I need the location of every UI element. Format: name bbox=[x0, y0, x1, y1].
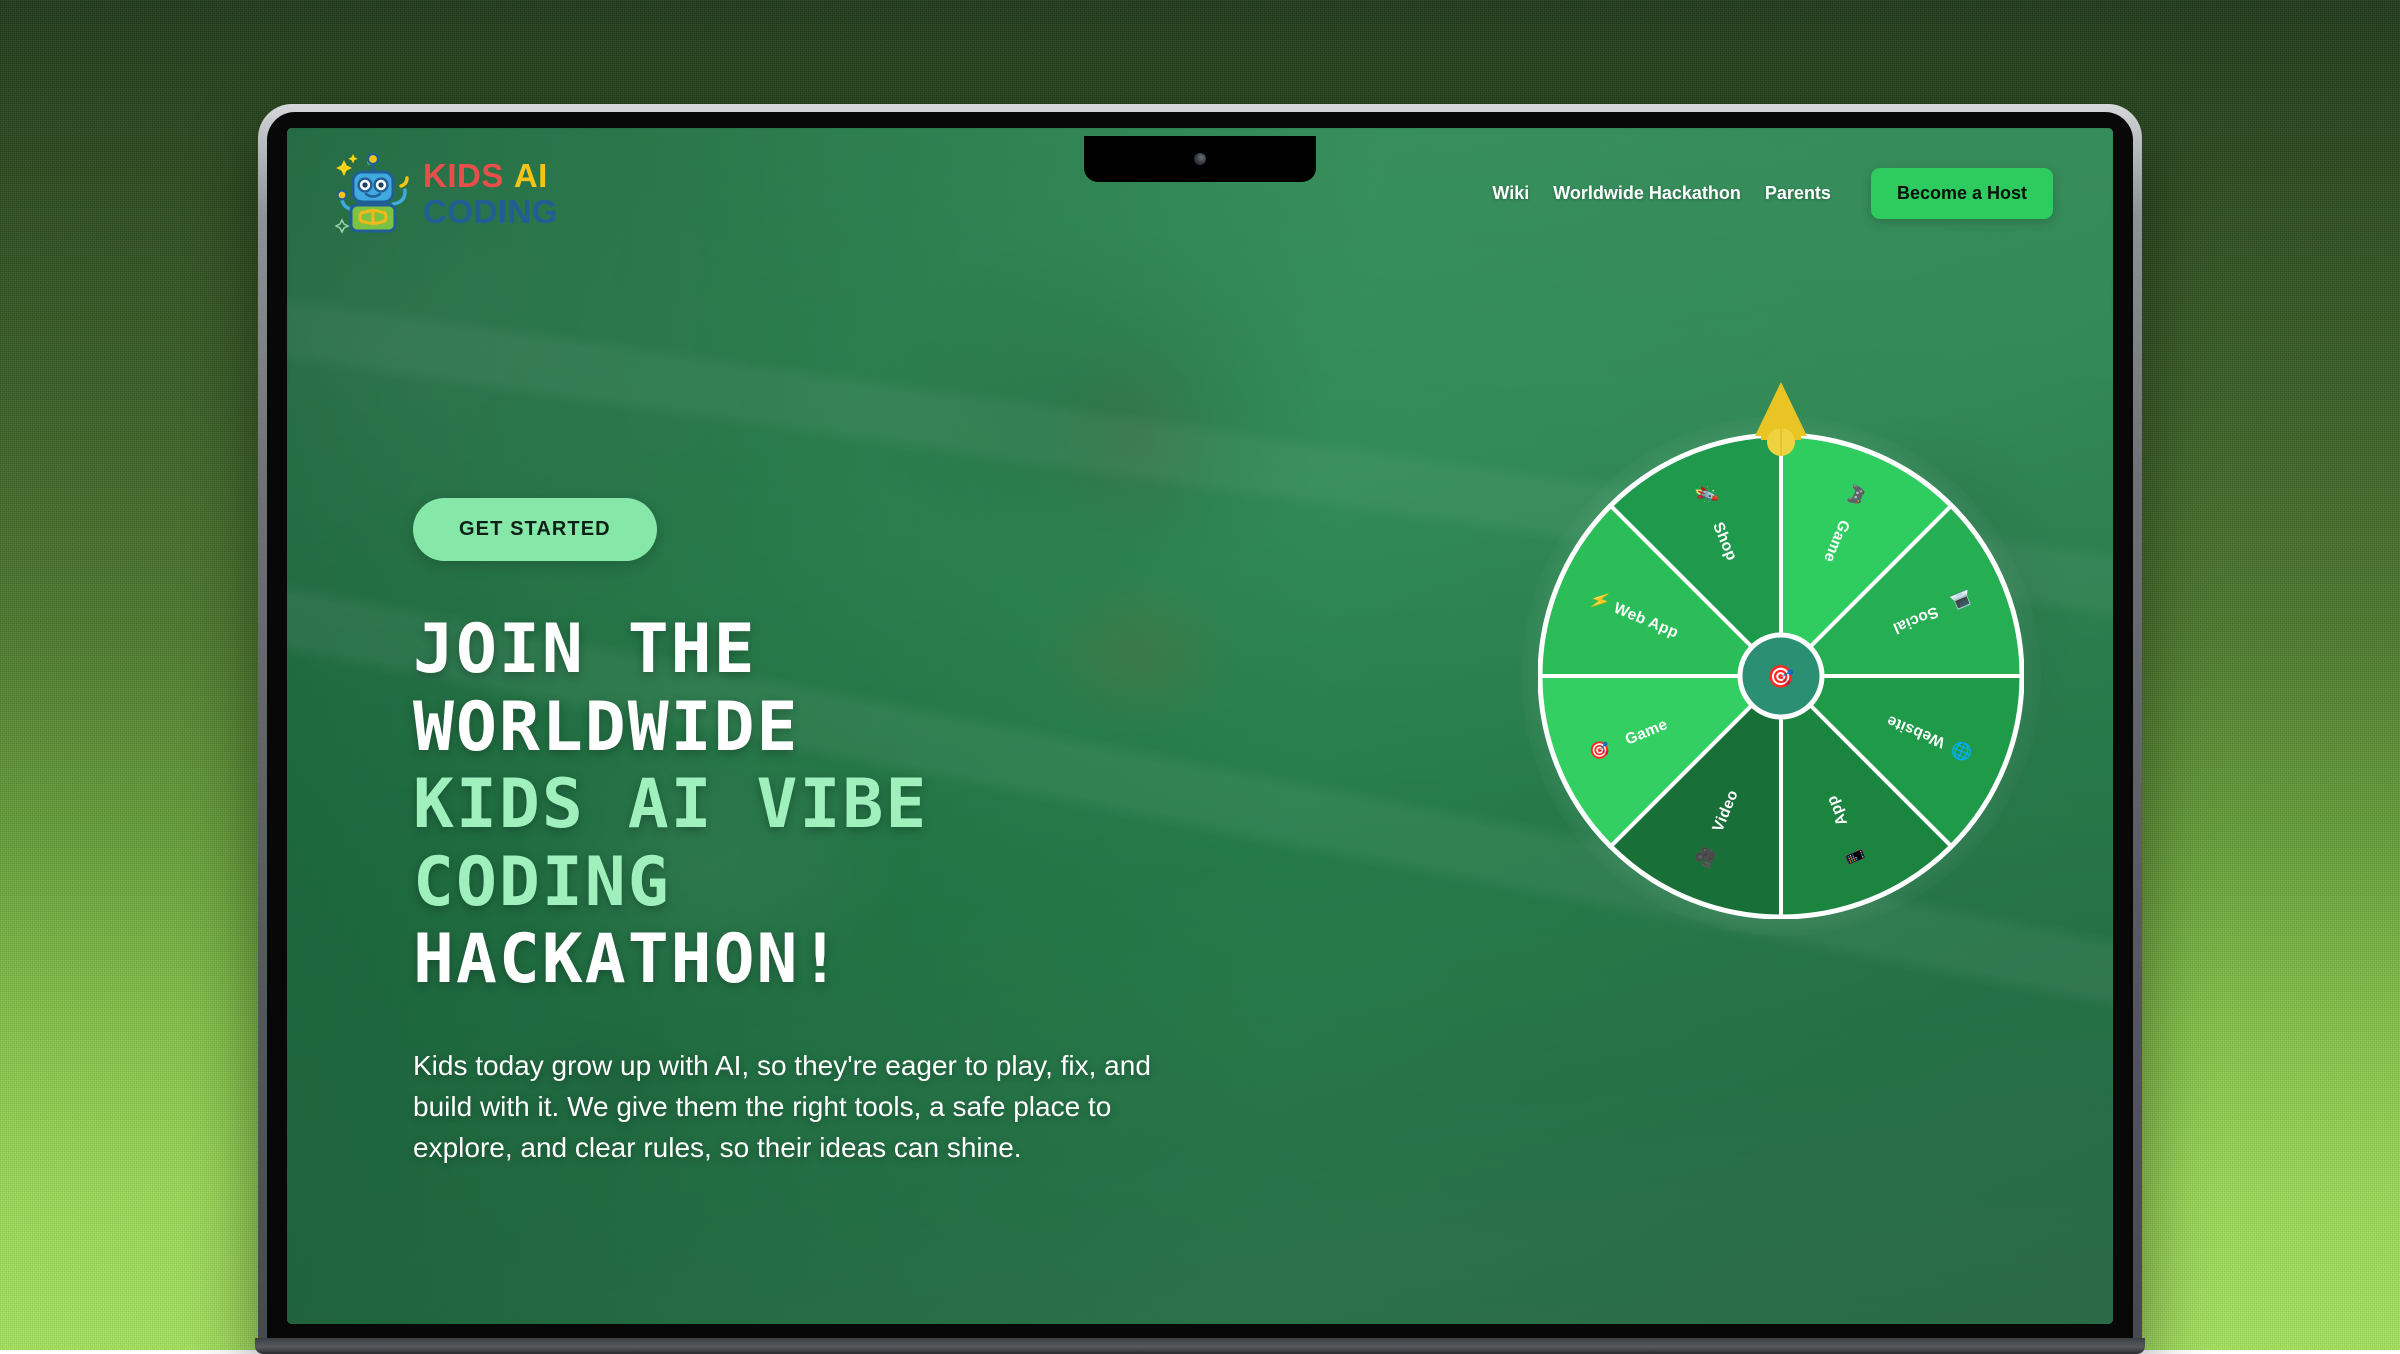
robot-mascot-icon bbox=[335, 150, 411, 236]
headline-line-1: JOIN THE bbox=[413, 611, 1293, 689]
logo-wordmark: KIDSAI CODING bbox=[423, 159, 558, 228]
wheel-pointer-icon bbox=[1737, 378, 1825, 470]
nav-link-worldwide-hackathon[interactable]: Worldwide Hackathon bbox=[1553, 183, 1741, 204]
headline-line-3: KIDS AI VIBE bbox=[413, 766, 1293, 844]
hero-section: GET STARTED JOIN THE WORLDWIDE KIDS AI V… bbox=[413, 498, 1293, 1169]
headline-line-5: HACKATHON! bbox=[413, 921, 1293, 999]
nav-link-wiki[interactable]: Wiki bbox=[1492, 183, 1529, 204]
laptop-base-edge bbox=[255, 1338, 2145, 1354]
site-logo[interactable]: KIDSAI CODING bbox=[335, 150, 558, 236]
laptop-screen: KIDSAI CODING Wiki Worldwide Hackathon P… bbox=[287, 128, 2113, 1324]
project-type-spin-wheel[interactable]: 🎮Game💻Social🌐Website📱App🎥Video🎯Game⚡Web … bbox=[1501, 356, 2061, 916]
logo-coding-text: CODING bbox=[423, 195, 558, 228]
headline-line-4: CODING bbox=[413, 844, 1293, 922]
wheel-graphic[interactable]: 🎮Game💻Social🌐Website📱App🎥Video🎯Game⚡Web … bbox=[1538, 433, 2024, 919]
logo-kids-text: KIDS bbox=[423, 157, 504, 194]
website-viewport: KIDSAI CODING Wiki Worldwide Hackathon P… bbox=[287, 128, 2113, 1324]
hero-paragraph: Kids today grow up with AI, so they're e… bbox=[413, 1045, 1213, 1169]
laptop-mockup: KIDSAI CODING Wiki Worldwide Hackathon P… bbox=[258, 104, 2142, 1350]
dart-icon: 🎯 bbox=[1767, 664, 1794, 689]
laptop-camera-notch bbox=[1084, 136, 1316, 182]
nav-link-parents[interactable]: Parents bbox=[1765, 183, 1831, 204]
become-a-host-button[interactable]: Become a Host bbox=[1871, 168, 2053, 219]
headline-line-2: WORLDWIDE bbox=[413, 689, 1293, 767]
main-navigation: Wiki Worldwide Hackathon Parents Become … bbox=[1492, 168, 2053, 219]
camera-icon bbox=[1194, 153, 1206, 165]
get-started-button[interactable]: GET STARTED bbox=[413, 498, 657, 561]
hero-headline: JOIN THE WORLDWIDE KIDS AI VIBE CODING H… bbox=[413, 611, 1293, 999]
logo-ai-text: AI bbox=[514, 157, 548, 194]
